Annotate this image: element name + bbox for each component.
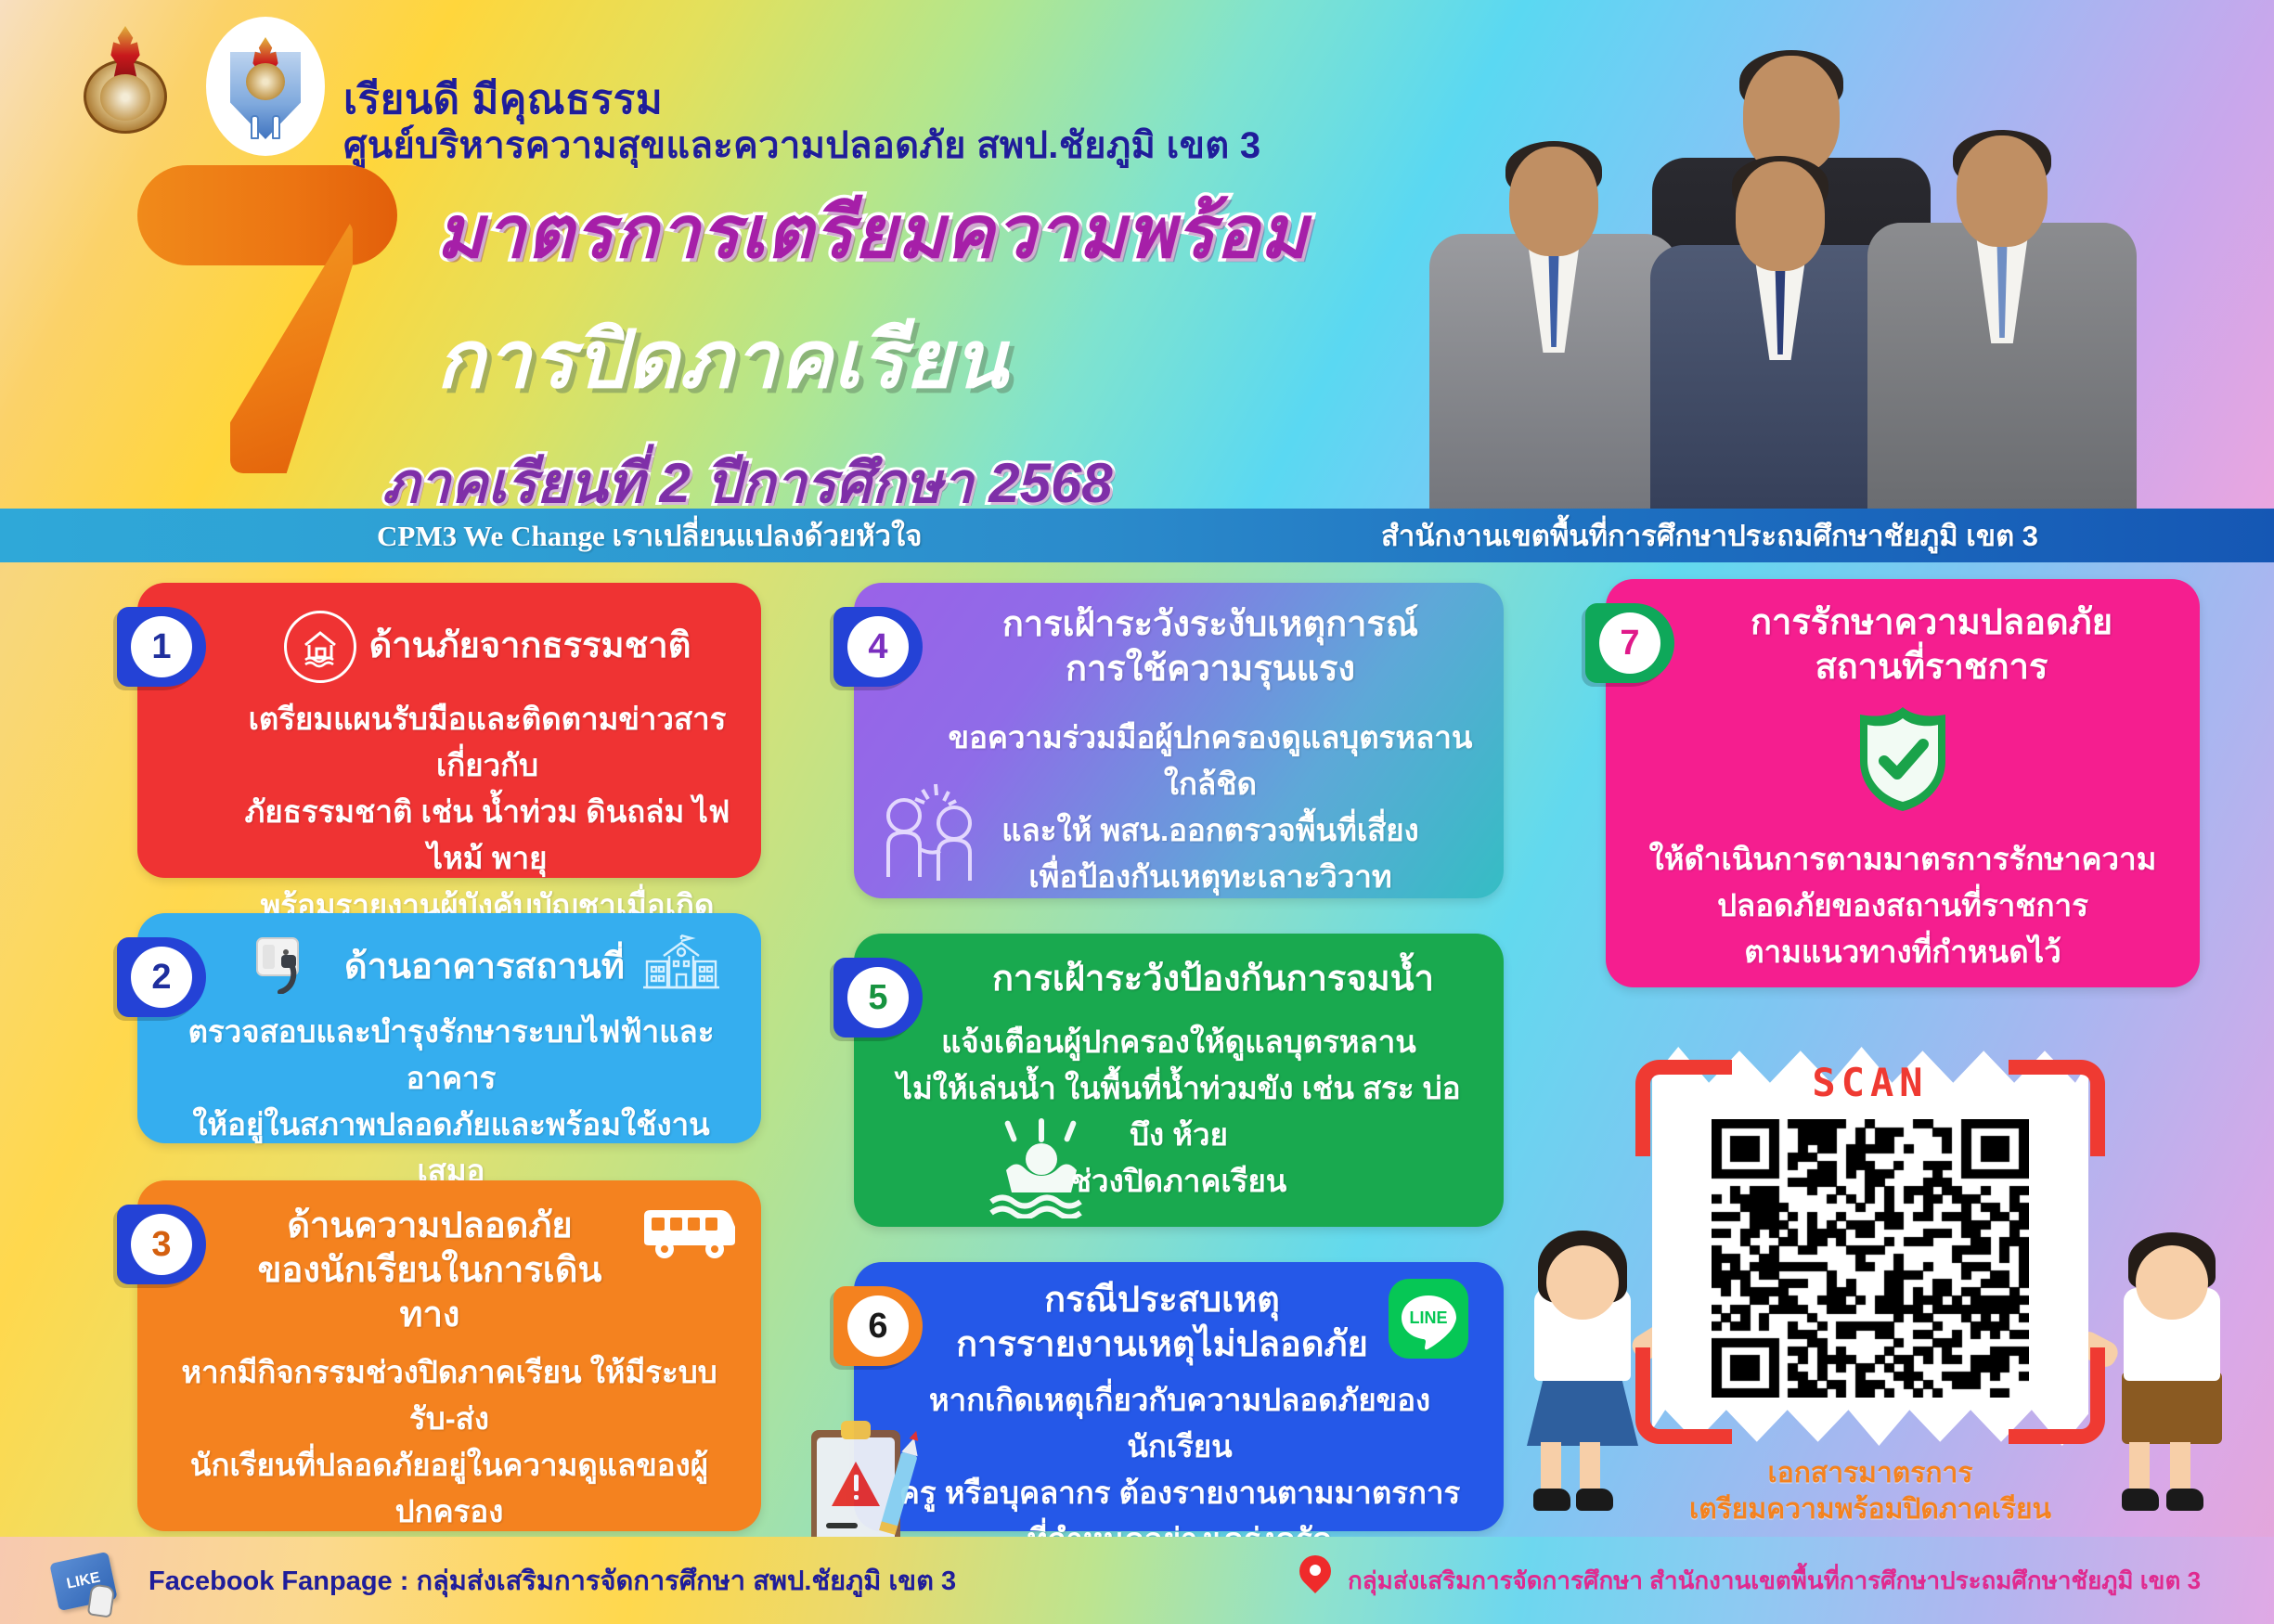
qr-scan-block[interactable]: SCAN เอกสารมาตรการ เตรียมความพร้อมปิดภาค… <box>1652 1047 2088 1483</box>
organization-title: เรียนดี มีคุณธรรม ศูนย์บริหารความสุขและค… <box>343 76 1260 168</box>
main-title-block: มาตรการเตรียมความพร้อม การปิดภาคเรียน ภา… <box>436 174 1364 509</box>
qr-caption-line2: เตรียมความพร้อมปิดภาคเรียน <box>1596 1491 2144 1527</box>
location-pin-icon <box>1299 1555 1331 1600</box>
slogan-text: CPM3 We Change เราเปลี่ยนแปลงด้วยหัวใจ <box>377 512 922 559</box>
card-5-number: 5 <box>868 978 887 1018</box>
drowning-person-icon <box>986 1118 1097 1223</box>
card-2-title: ด้านอาคารสถานที่ <box>344 946 625 990</box>
fighting-people-icon <box>874 773 995 889</box>
card-7-title-line1: การรักษาความปลอดภัย <box>1687 601 2176 646</box>
office-name-text: สำนักงานเขตพื้นที่การศึกษาประถมศึกษาชัยภ… <box>1381 512 2038 559</box>
office-address-text: กลุ่มส่งเสริมการจัดการศึกษา สำนักงานเขตพ… <box>1348 1562 2201 1600</box>
card-6-badge: 6 <box>833 1286 923 1366</box>
org-center-name: ศูนย์บริหารความสุขและความปลอดภัย สพป.ชัย… <box>343 124 1260 168</box>
executive-portrait-right <box>1867 130 2137 509</box>
card-4-title-line2: การใช้ความรุนแรง <box>943 648 1478 692</box>
footer-bar: LIKE Facebook Fanpage : กลุ่มส่งเสริมการ… <box>0 1537 2274 1624</box>
royal-garuda-emblem <box>76 26 174 135</box>
card-6-title-line2: การรายงานเหตุไม่ปลอดภัย <box>956 1323 1368 1368</box>
obec-safety-center-shield-icon <box>206 17 325 156</box>
card-7-body: ให้ดำเนินการตามมาตรการรักษาความ ปลอดภัยข… <box>1606 836 2200 975</box>
card-7-number: 7 <box>1620 624 1639 664</box>
measure-card-7[interactable]: 7 การรักษาความปลอดภัย สถานที่ราชการ ให้ด… <box>1606 579 2200 987</box>
executive-portrait-left <box>1429 141 1678 509</box>
measure-card-4[interactable]: 4 การเฝ้าระวังระงับเหตุการณ์ การใช้ความร… <box>854 583 1504 898</box>
svg-text:LINE: LINE <box>1409 1308 1447 1327</box>
qr-caption: เอกสารมาตรการ เตรียมความพร้อมปิดภาคเรียน <box>1596 1455 2144 1527</box>
card-1-badge: 1 <box>117 607 206 687</box>
measure-card-1[interactable]: 1 ด้านภัยจากธรรมชาติ เตรียมแผนรับมือและต… <box>137 583 761 878</box>
card-5-badge: 5 <box>833 958 923 1038</box>
page-title-line3: ภาคเรียนที่ 2 ปีการศึกษา 2568 <box>382 439 1364 509</box>
card-3-number: 3 <box>151 1225 171 1265</box>
card-3-badge: 3 <box>117 1205 206 1284</box>
card-3-title-line2: ของนักเรียนในการเดินทาง <box>239 1249 620 1338</box>
electric-plug-icon <box>255 936 328 999</box>
card-4-body: ขอความร่วมมือผู้ปกครองดูแลบุตรหลานใกล้ชิ… <box>943 715 1478 901</box>
header-banner: เรียนดี มีคุณธรรม ศูนย์บริหารความสุขและค… <box>0 0 2274 509</box>
measure-card-3[interactable]: 3 ด้านความปลอดภัย ของนักเรียนในการเดินทา… <box>137 1180 761 1531</box>
hand-cursor-icon <box>87 1583 115 1618</box>
card-1-number: 1 <box>151 627 171 667</box>
card-4-title-line1: การเฝ้าระวังระงับเหตุการณ์ <box>943 603 1478 648</box>
card-4-badge: 4 <box>833 607 923 687</box>
flooded-house-icon <box>284 611 356 683</box>
card-7-badge: 7 <box>1585 603 1674 683</box>
card-6-body: หากเกิดเหตุเกี่ยวกับความปลอดภัยของนักเรี… <box>878 1377 1481 1564</box>
qr-code-image[interactable] <box>1712 1119 2029 1398</box>
school-building-icon <box>641 934 721 1001</box>
card-4-number: 4 <box>868 627 887 667</box>
card-7-title-line2: สถานที่ราชการ <box>1687 646 2176 690</box>
card-2-badge: 2 <box>117 937 206 1017</box>
card-5-body: แจ้งเตือนผู้ปกครองให้ดูแลบุตรหลาน ไม่ให้… <box>878 1019 1479 1205</box>
org-motto: เรียนดี มีคุณธรรม <box>343 76 1260 124</box>
line-app-icon[interactable]: LINE <box>1389 1279 1468 1363</box>
page-title-line2: การปิดภาคเรียน <box>436 295 1364 422</box>
qr-caption-line1: เอกสารมาตรการ <box>1596 1455 2144 1491</box>
shield-check-icon <box>1853 703 1953 819</box>
page-title-line1: มาตรการเตรียมความพร้อม <box>436 174 1364 290</box>
slogan-banner: CPM3 We Change เราเปลี่ยนแปลงด้วยหัวใจ ส… <box>0 509 2274 562</box>
card-6-title-line1: กรณีประสบเหตุ <box>956 1279 1368 1323</box>
school-bus-icon <box>639 1205 739 1267</box>
card-1-title: ด้านภัยจากธรรมชาติ <box>369 625 691 669</box>
big-number-seven <box>137 165 407 471</box>
card-2-number: 2 <box>151 958 171 998</box>
measure-card-6[interactable]: 6 กรณีประสบเหตุ การรายงานเหตุไม่ปลอดภัย … <box>854 1262 1504 1531</box>
measure-card-5[interactable]: 5 การเฝ้าระวังป้องกันการจมน้ำ แจ้งเตือนผ… <box>854 934 1504 1227</box>
measure-card-2[interactable]: 2 ด้านอาคารสถานที่ <box>137 913 761 1143</box>
executives-photo <box>1413 9 2155 509</box>
card-6-number: 6 <box>868 1307 887 1347</box>
facebook-fanpage-text: Facebook Fanpage : กลุ่มส่งเสริมการจัดกา… <box>149 1559 956 1602</box>
card-5-title: การเฝ้าระวังป้องกันการจมน้ำ <box>947 958 1479 1002</box>
card-2-body: ตรวจสอบและบำรุงรักษาระบบไฟฟ้าและอาคาร ให… <box>160 1009 743 1195</box>
card-3-title-line1: ด้านความปลอดภัย <box>239 1205 620 1249</box>
